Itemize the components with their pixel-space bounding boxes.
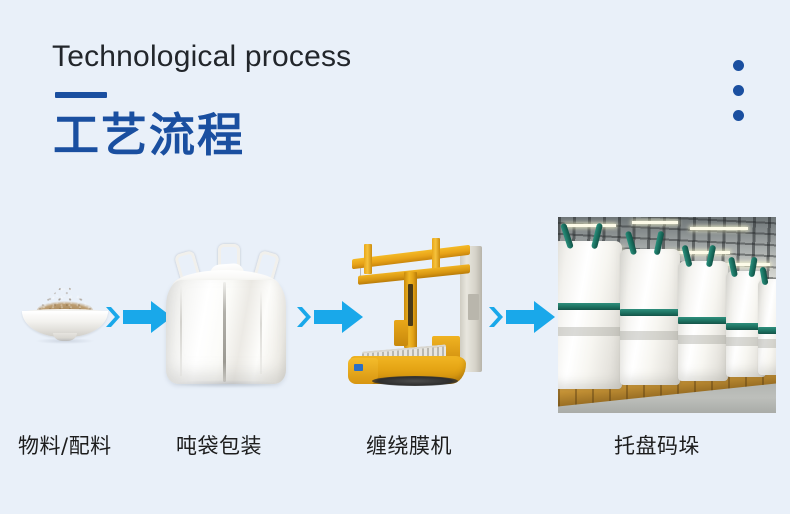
machine-frame-beam [364, 244, 372, 274]
bulk-bag [558, 241, 622, 389]
bag-strap-band [678, 317, 728, 324]
step-label-bagging: 吨袋包装 [176, 430, 262, 460]
dot-icon [733, 85, 744, 96]
bowl-shadow [36, 338, 94, 344]
step-label-palletizing: 托盘码垛 [614, 430, 700, 460]
ceiling-light [564, 224, 616, 227]
menu-dots-group[interactable] [733, 60, 744, 121]
bag-center-seam [223, 282, 226, 382]
title-underline-rule [55, 92, 107, 98]
step-wrapping-image [348, 236, 488, 388]
bag-strap-band [620, 309, 680, 316]
machine-control-panel [468, 294, 479, 320]
dot-icon [733, 60, 744, 71]
bag-strap-band [558, 303, 622, 310]
machine-mast-rail [408, 284, 413, 326]
bag-body [166, 280, 286, 384]
page-title-chinese: 工艺流程 [53, 109, 532, 161]
step-bagging-image [160, 234, 292, 386]
ceiling-light [690, 227, 748, 230]
ceiling-light [632, 221, 678, 224]
bag-fold [260, 290, 262, 374]
machine-film-carriage [394, 320, 408, 346]
page-header: Technological process 工艺流程 [52, 38, 532, 161]
machine-brand-label [354, 364, 363, 371]
flow-arrow-right-icon [489, 297, 555, 337]
page-title-english: Technological process [52, 38, 532, 76]
bag-strap-band [758, 327, 776, 334]
bag-shadow [172, 380, 280, 388]
dot-icon [733, 110, 744, 121]
machine-turntable-shadow [372, 376, 458, 386]
bulk-bag [620, 249, 680, 385]
process-flow-page: Technological process 工艺流程 [0, 0, 790, 514]
step-label-material: 物料/配料 [18, 430, 112, 460]
step-palletizing-image [558, 217, 776, 413]
step-material-image [22, 283, 108, 345]
bag-fold [180, 286, 182, 376]
step-label-wrapping: 缠绕膜机 [366, 430, 452, 460]
step-labels-row: 物料/配料 吨袋包装 缠绕膜机 托盘码垛 [0, 430, 790, 470]
